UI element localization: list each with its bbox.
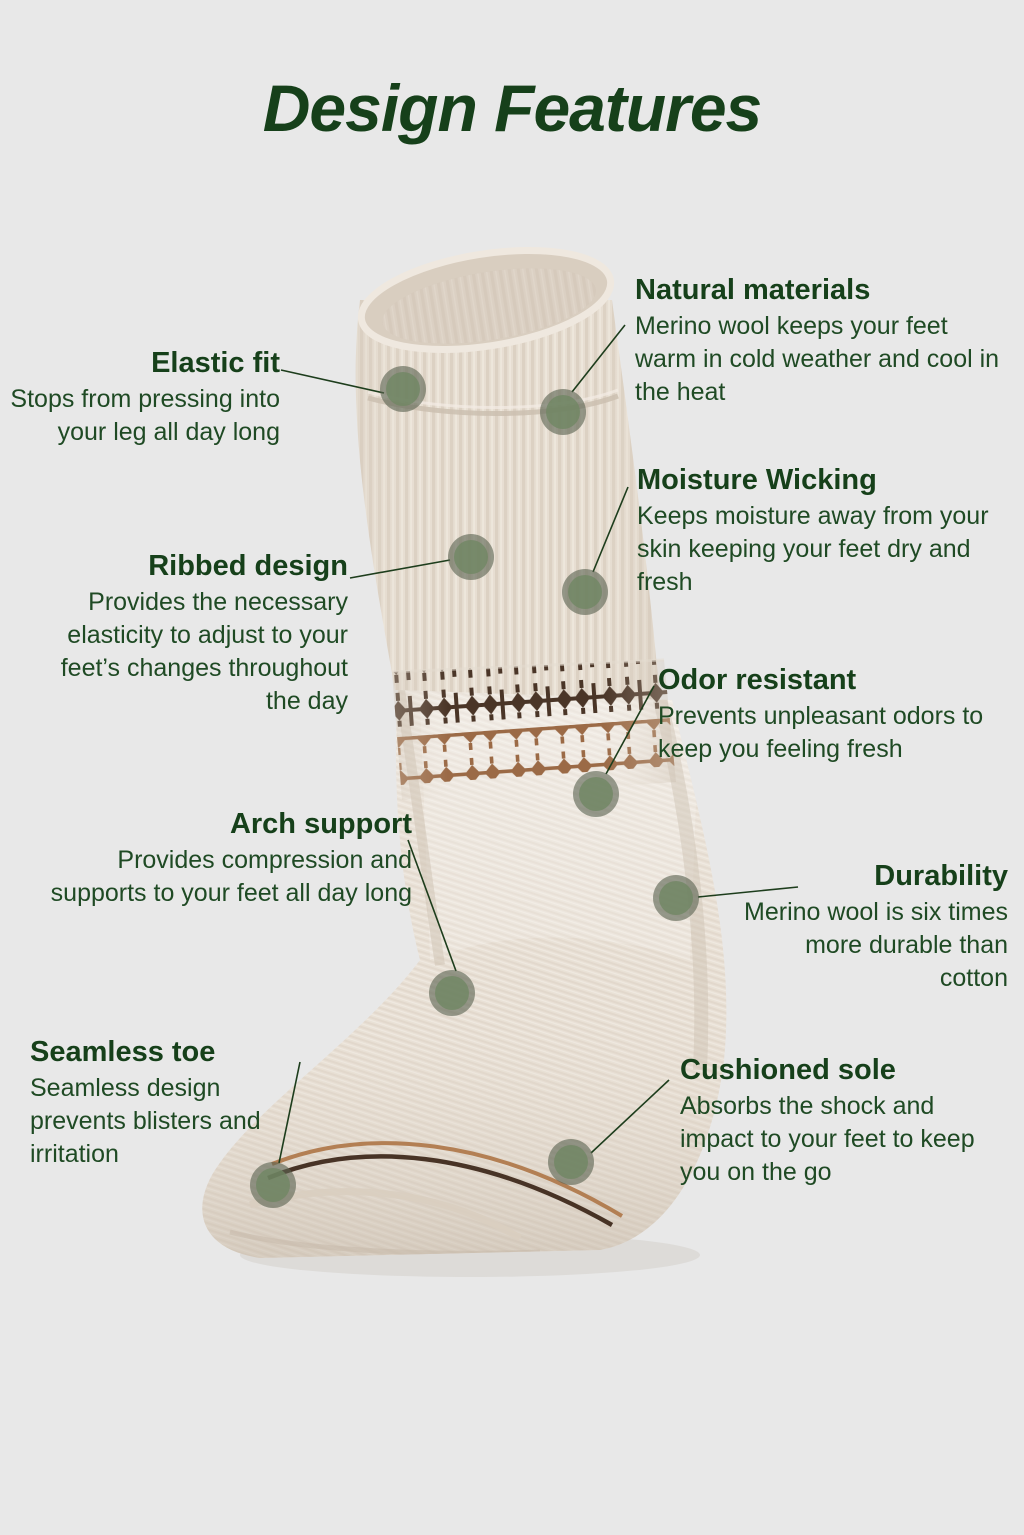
design-features-infographic: Design Features [0, 0, 1024, 1535]
callout-title-moisture-wicking: Moisture Wicking [637, 462, 1007, 498]
callout-durability: Durability Merino wool is six times more… [740, 858, 1008, 995]
callout-title-arch-support: Arch support [22, 806, 412, 842]
callout-title-cushioned-sole: Cushioned sole [680, 1052, 1000, 1088]
callout-cushioned-sole: Cushioned sole Absorbs the shock and imp… [680, 1052, 1000, 1189]
callout-title-elastic-fit: Elastic fit [2, 345, 280, 381]
callout-title-ribbed-design: Ribbed design [28, 548, 348, 584]
callout-body-durability: Merino wool is six times more durable th… [740, 896, 1008, 995]
callout-body-arch-support: Provides compression and supports to you… [22, 844, 412, 910]
callout-title-natural-materials: Natural materials [635, 272, 1005, 308]
callout-body-cushioned-sole: Absorbs the shock and impact to your fee… [680, 1090, 1000, 1189]
callout-natural-materials: Natural materials Merino wool keeps your… [635, 272, 1005, 409]
callout-odor-resistant: Odor resistant Prevents unpleasant odors… [658, 662, 1018, 766]
marker-elastic-fit[interactable] [380, 366, 426, 412]
callout-arch-support: Arch support Provides compression and su… [22, 806, 412, 910]
marker-moisture-wicking[interactable] [562, 569, 608, 615]
callout-body-moisture-wicking: Keeps moisture away from your skin keepi… [637, 500, 1007, 599]
callout-moisture-wicking: Moisture Wicking Keeps moisture away fro… [637, 462, 1007, 599]
marker-cushioned-sole[interactable] [548, 1139, 594, 1185]
marker-durability[interactable] [653, 875, 699, 921]
callout-ribbed-design: Ribbed design Provides the necessary ela… [28, 548, 348, 718]
callout-body-ribbed-design: Provides the necessary elasticity to adj… [28, 586, 348, 718]
marker-arch-support[interactable] [429, 970, 475, 1016]
callout-body-seamless-toe: Seamless design prevents blisters and ir… [30, 1072, 310, 1171]
marker-natural-materials[interactable] [540, 389, 586, 435]
callout-body-natural-materials: Merino wool keeps your feet warm in cold… [635, 310, 1005, 409]
callout-title-durability: Durability [740, 858, 1008, 894]
callout-body-elastic-fit: Stops from pressing into your leg all da… [2, 383, 280, 449]
fairisle-pattern-bands [380, 651, 690, 805]
callout-title-odor-resistant: Odor resistant [658, 662, 1018, 698]
sock-illustration [0, 0, 1024, 1535]
marker-ribbed-design[interactable] [448, 534, 494, 580]
marker-odor-resistant[interactable] [573, 771, 619, 817]
callout-elastic-fit: Elastic fit Stops from pressing into you… [2, 345, 280, 449]
callout-title-seamless-toe: Seamless toe [30, 1034, 310, 1070]
callout-seamless-toe: Seamless toe Seamless design prevents bl… [30, 1034, 310, 1171]
callout-body-odor-resistant: Prevents unpleasant odors to keep you fe… [658, 700, 1018, 766]
